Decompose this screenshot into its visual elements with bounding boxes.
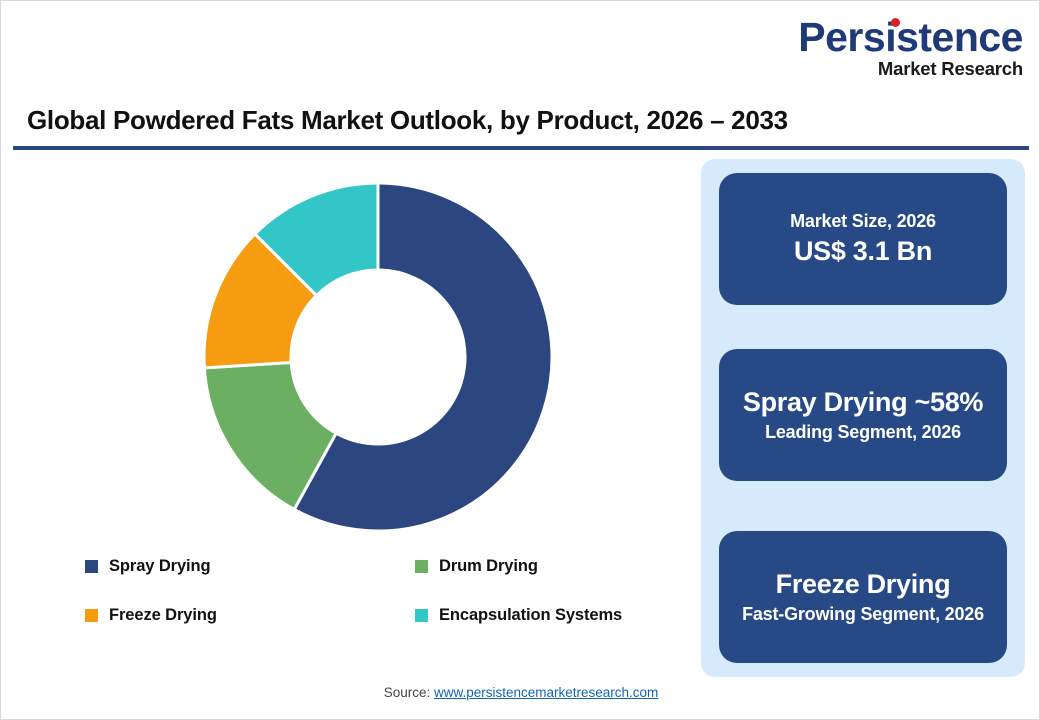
- donut-chart: [198, 177, 558, 537]
- source-footer: Source: www.persistencemarketresearch.co…: [1, 685, 1040, 700]
- card-fast-growing-segment-label: Fast-Growing Segment, 2026: [742, 604, 984, 625]
- stat-card-fast-growing-segment: Freeze Drying Fast-Growing Segment, 2026: [719, 531, 1007, 663]
- legend-item-encapsulation-systems[interactable]: Encapsulation Systems: [415, 606, 685, 625]
- legend-swatch-spray-drying: [85, 560, 98, 573]
- card-leading-segment-label: Leading Segment, 2026: [765, 422, 961, 443]
- source-link[interactable]: www.persistencemarketresearch.com: [434, 685, 658, 700]
- legend-swatch-drum-drying: [415, 560, 428, 573]
- brand-dot-icon: [891, 18, 900, 27]
- legend-swatch-freeze-drying: [85, 609, 98, 622]
- legend-label-spray-drying: Spray Drying: [109, 557, 211, 576]
- card-market-size-value: US$ 3.1 Bn: [794, 236, 932, 267]
- legend-swatch-encapsulation-systems: [415, 609, 428, 622]
- legend-item-spray-drying[interactable]: Spray Drying: [85, 557, 415, 576]
- legend-item-drum-drying[interactable]: Drum Drying: [415, 557, 685, 576]
- card-market-size-label: Market Size, 2026: [790, 211, 936, 232]
- card-fast-growing-segment-value: Freeze Drying: [776, 569, 951, 600]
- title-divider: [13, 146, 1029, 150]
- brand-tagline: Market Research: [793, 60, 1023, 79]
- page-title: Global Powdered Fats Market Outlook, by …: [27, 105, 788, 136]
- chart-container: Spray Drying Drum Drying Freeze Drying E…: [13, 153, 689, 673]
- card-leading-segment-value: Spray Drying ~58%: [743, 387, 983, 418]
- stat-card-market-size: Market Size, 2026 US$ 3.1 Bn: [719, 173, 1007, 305]
- donut-chart-wrap: [13, 153, 689, 553]
- stats-panel: Market Size, 2026 US$ 3.1 Bn Spray Dryin…: [701, 159, 1025, 677]
- legend-item-freeze-drying[interactable]: Freeze Drying: [85, 606, 415, 625]
- legend-label-encapsulation-systems: Encapsulation Systems: [439, 606, 622, 625]
- infographic-page: Persistence Market Research Global Powde…: [0, 0, 1040, 720]
- legend-label-freeze-drying: Freeze Drying: [109, 606, 217, 625]
- brand-name: Persistence: [798, 17, 1023, 58]
- legend-label-drum-drying: Drum Drying: [439, 557, 538, 576]
- chart-legend: Spray Drying Drum Drying Freeze Drying E…: [85, 557, 685, 625]
- source-prefix: Source:: [384, 685, 434, 700]
- brand-logo: Persistence Market Research: [793, 17, 1023, 79]
- stat-card-leading-segment: Spray Drying ~58% Leading Segment, 2026: [719, 349, 1007, 481]
